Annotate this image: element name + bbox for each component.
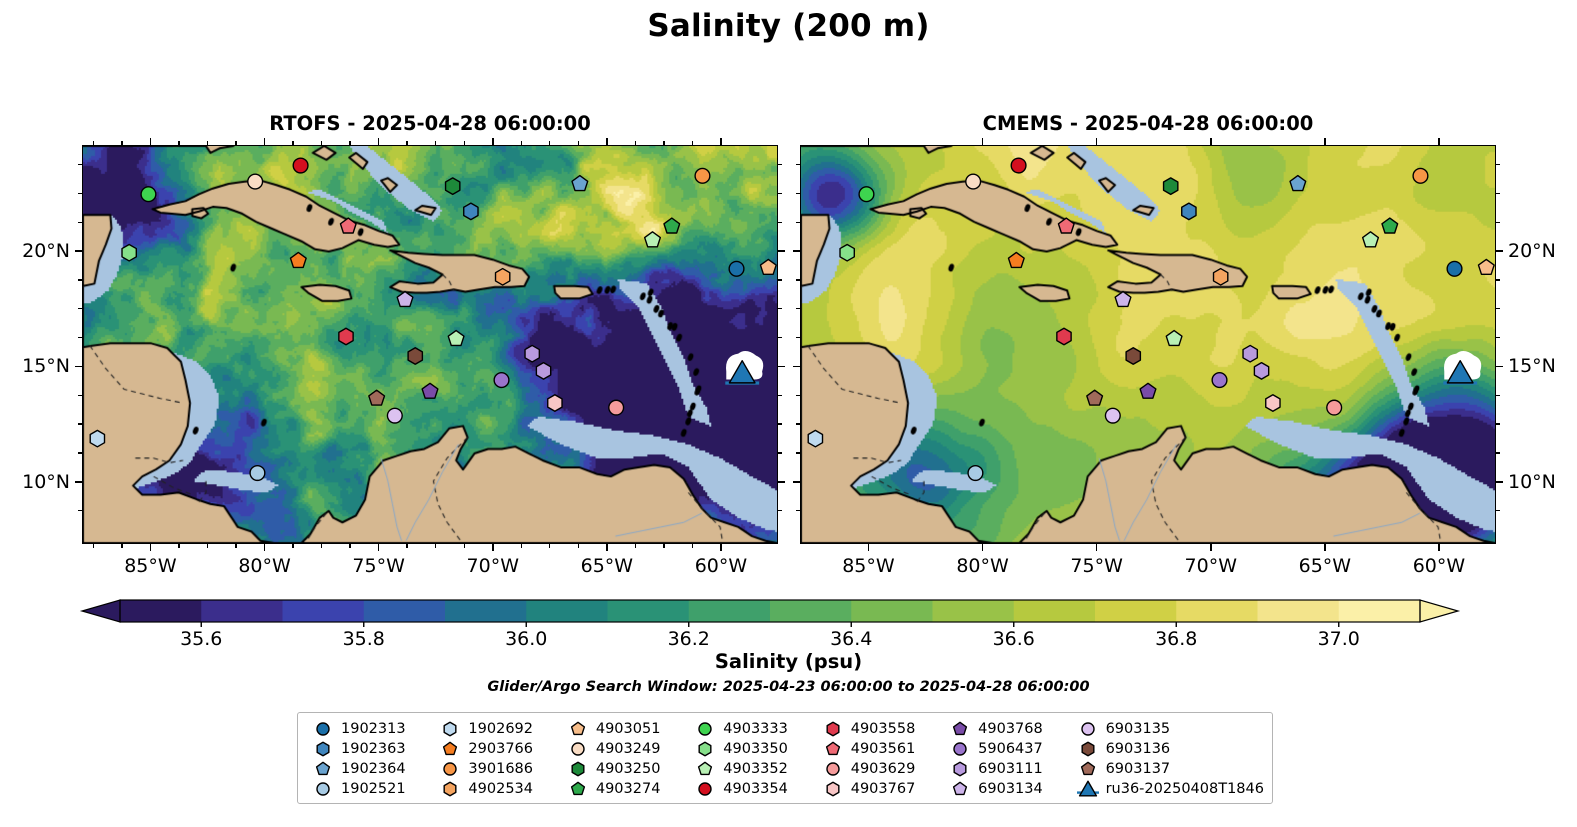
y-tick-label: 20°N [0,240,70,262]
y-tick-major-r [778,250,785,252]
x-tick-minor [635,544,636,548]
x-tick-minor-top [349,141,350,145]
colorbar-segment [283,600,365,622]
colorbar-segment [851,600,933,622]
y-tick-minor [796,222,800,223]
colorbar-segment [1095,600,1177,622]
legend-marker-hexagon-icon [567,759,589,779]
y-tick-minor [796,279,800,280]
legend-label: 6903137 [1106,762,1171,777]
legend-entry[interactable]: 4903249 [561,739,684,759]
y-tick-minor [78,164,82,165]
colorbar-tick-label: 35.8 [343,628,385,650]
x-tick-label: 85°W [842,555,894,577]
legend-entry[interactable]: 4903768 [943,719,1066,739]
y-tick-minor-r [778,337,782,338]
y-tick-minor-r [1496,510,1500,511]
x-tick-label: 80°W [238,555,290,577]
x-tick-major [1324,544,1326,551]
y-tick-minor-r [1496,279,1500,280]
legend-label: 1902363 [341,742,406,757]
legend-entry[interactable]: 1902313 [306,719,429,739]
colorbar-segment [445,600,527,622]
legend-marker-hexagon-icon [1077,739,1099,759]
y-tick-minor [78,222,82,223]
x-tick-minor-top [663,141,664,145]
legend-entry[interactable]: 1902364 [306,759,429,779]
x-tick-major [982,544,984,551]
legend-entry[interactable]: 5906437 [943,739,1066,759]
legend-marker-circle-icon [439,759,461,779]
x-tick-label: 80°W [956,555,1008,577]
legend-label: 4903250 [596,762,661,777]
legend-marker-pentagon-icon [439,739,461,759]
x-tick-minor [93,544,94,548]
x-tick-label: 75°W [1070,555,1122,577]
legend-label: 6903134 [978,782,1043,797]
colorbar-tick-label: 36.0 [505,628,547,650]
legend-label: 4903561 [851,742,916,757]
legend-entry[interactable]: 1902521 [306,779,429,799]
legend-label: 5906437 [978,742,1043,757]
page-title: Salinity (200 m) [0,8,1577,44]
x-tick-major-top [150,138,152,145]
rtofs-platform-markers [83,146,777,543]
legend-entry[interactable]: 6903134 [943,779,1066,799]
y-tick-label: 10°N [0,471,70,493]
legend-label: 3901686 [468,762,533,777]
legend-entry[interactable]: ru36-20250408T1846 [1071,779,1264,799]
x-tick-minor [435,544,436,548]
x-tick-major-top [868,138,870,145]
y-tick-minor-r [1496,308,1500,309]
legend-label: 4903767 [851,782,916,797]
x-tick-minor-top [692,141,693,145]
legend-marker-hexagon-icon [822,779,844,799]
legend-marker-hexagon-icon [312,739,334,759]
rtofs-map-panel[interactable] [82,145,778,544]
x-tick-minor-top [207,141,208,145]
colorbar-tick-label: 36.2 [668,628,710,650]
y-tick-major-r [778,481,785,483]
y-tick-major [75,250,82,252]
y-tick-minor [796,395,800,396]
legend-marker-circle-icon [567,739,589,759]
legend-label: 1902521 [341,782,406,797]
legend-marker-hexagon-icon [822,719,844,739]
x-tick-major [868,544,870,551]
x-tick-label: 75°W [352,555,404,577]
legend-label: ru36-20250408T1846 [1106,782,1264,797]
legend-entry[interactable]: 6903111 [943,759,1066,779]
y-tick-minor-r [778,279,782,280]
search-window-annotation: Glider/Argo Search Window: 2025-04-23 06… [0,679,1577,695]
y-tick-minor-r [1496,395,1500,396]
legend-label: 4903558 [851,722,916,737]
y-tick-minor-r [1496,452,1500,453]
legend-label: 4903354 [723,782,788,797]
legend-entry[interactable]: 4903250 [561,759,684,779]
y-tick-minor [78,395,82,396]
colorbar-segment [526,600,608,622]
cmems-platform-markers [801,146,1495,543]
legend-entry[interactable]: 4902534 [433,779,556,799]
legend-marker-triangle-icon [1077,779,1099,799]
y-tick-minor [796,308,800,309]
x-tick-major [150,544,152,551]
x-tick-major [1438,544,1440,551]
y-tick-minor [796,193,800,194]
y-tick-minor [796,337,800,338]
colorbar-segment [120,600,202,622]
x-tick-major-top [492,138,494,145]
y-tick-minor-r [778,164,782,165]
y-tick-label: 15°N [1508,355,1556,377]
x-tick-minor [349,544,350,548]
x-tick-major [606,544,608,551]
x-tick-major [492,544,494,551]
cmems-panel-title: CMEMS - 2025-04-28 06:00:00 [800,112,1496,135]
legend-label: 2903766 [468,742,533,757]
legend-marker-circle-icon [312,779,334,799]
legend-marker-circle-icon [949,739,971,759]
colorbar-segment [1339,600,1421,622]
colorbar-segment [201,600,283,622]
colorbar-tick-label: 36.4 [830,628,872,650]
legend-marker-pentagon-icon [567,719,589,739]
colorbar-segment [1176,600,1258,622]
y-tick-minor-r [1496,337,1500,338]
legend-marker-hexagon-icon [694,739,716,759]
x-tick-major-top [982,138,984,145]
x-tick-label: 60°W [1413,555,1465,577]
legend-marker-pentagon-icon [822,739,844,759]
legend-marker-pentagon-icon [567,779,589,799]
legend-entry[interactable]: 4903274 [561,779,684,799]
legend-marker-circle-icon [312,719,334,739]
colorbar-segment [1258,600,1340,622]
x-tick-major [720,544,722,551]
colorbar-extend-min [82,600,120,622]
colorbar-segment [608,600,690,622]
y-tick-minor-r [778,423,782,424]
x-tick-major-top [606,138,608,145]
x-tick-minor [663,544,664,548]
x-tick-minor [292,544,293,548]
colorbar-segment [689,600,771,622]
y-tick-minor-r [778,452,782,453]
legend-marker-hexagon-icon [439,779,461,799]
colorbar-segment [933,600,1015,622]
x-tick-minor [549,544,550,548]
legend-marker-circle-icon [694,719,716,739]
legend-marker-hexagon-icon [949,759,971,779]
colorbar-axis-label: Salinity (psu) [0,650,1577,673]
x-tick-label: 65°W [581,555,633,577]
legend-entry[interactable]: 2903766 [433,739,556,759]
x-tick-minor-top [292,141,293,145]
legend-marker-hexagon-icon [439,719,461,739]
legend-marker-pentagon-icon [949,719,971,739]
legend-label: 4902534 [468,782,533,797]
legend-marker-pentagon-icon [312,759,334,779]
x-tick-major-top [1324,138,1326,145]
legend-entry[interactable]: 6903135 [1071,719,1264,739]
legend-entry[interactable]: 4903561 [816,739,939,759]
x-tick-minor-top [321,141,322,145]
y-tick-major [75,481,82,483]
legend-marker-pentagon-icon [949,779,971,799]
legend-marker-pentagon-icon [694,759,716,779]
y-tick-minor [78,452,82,453]
x-tick-major-top [378,138,380,145]
y-tick-minor-r [778,395,782,396]
legend-entry[interactable]: 4903051 [561,719,684,739]
y-tick-minor-r [778,193,782,194]
x-tick-minor-top [635,141,636,145]
legend-entry[interactable]: 1902692 [433,719,556,739]
legend-entry[interactable]: 1902363 [306,739,429,759]
colorbar-tick-label: 36.8 [1155,628,1197,650]
x-tick-label: 60°W [695,555,747,577]
legend-label: 4903350 [723,742,788,757]
x-tick-major [378,544,380,551]
y-tick-minor-r [778,308,782,309]
legend-label: 6903136 [1106,742,1171,757]
y-tick-major [793,481,800,483]
legend-label: 4903352 [723,762,788,777]
y-tick-minor-r [1496,222,1500,223]
y-tick-major-r [778,366,785,368]
x-tick-minor-top [121,141,122,145]
y-tick-major-r [1496,481,1503,483]
legend-label: 4903629 [851,762,916,777]
legend-entry[interactable]: 4903767 [816,779,939,799]
x-tick-minor-top [578,141,579,145]
colorbar-tick-label: 36.6 [993,628,1035,650]
x-tick-label: 70°W [467,555,519,577]
x-tick-major-top [1210,138,1212,145]
rtofs-panel-title: RTOFS - 2025-04-28 06:00:00 [82,112,778,135]
y-tick-minor-r [1496,423,1500,424]
y-tick-label: 10°N [1508,471,1556,493]
y-tick-minor [78,279,82,280]
x-tick-major [264,544,266,551]
colorbar-segment [770,600,852,622]
y-tick-minor [78,308,82,309]
legend-marker-circle-icon [1077,719,1099,739]
legend-entry[interactable]: 6903137 [1071,759,1264,779]
x-tick-minor [321,544,322,548]
y-tick-minor [78,193,82,194]
legend-label: 1902364 [341,762,406,777]
y-tick-minor-r [1496,164,1500,165]
y-tick-major [793,250,800,252]
legend-entry[interactable]: 4903350 [688,739,811,759]
cmems-map-panel[interactable] [800,145,1496,544]
y-tick-minor-r [778,222,782,223]
x-tick-minor-top [93,141,94,145]
y-tick-major-r [1496,250,1503,252]
x-tick-minor-top [178,141,179,145]
x-tick-minor [692,544,693,548]
y-tick-minor [796,452,800,453]
legend-label: 4903768 [978,722,1043,737]
legend-entry[interactable]: 4903352 [688,759,811,779]
x-tick-minor-top [549,141,550,145]
x-tick-minor [207,544,208,548]
legend-entry[interactable]: 4903629 [816,759,939,779]
y-tick-major-r [1496,366,1503,368]
colorbar-segment [364,600,446,622]
y-tick-major [793,366,800,368]
legend-entry[interactable]: 4903333 [688,719,811,739]
x-tick-minor [464,544,465,548]
x-tick-minor-top [235,141,236,145]
y-tick-minor [796,423,800,424]
x-tick-major-top [264,138,266,145]
x-tick-label: 65°W [1299,555,1351,577]
x-tick-minor-top [521,141,522,145]
legend-label: 6903135 [1106,722,1171,737]
x-tick-major [1096,544,1098,551]
colorbar-extend-max [1420,600,1458,622]
y-tick-minor [78,510,82,511]
x-tick-label: 70°W [1185,555,1237,577]
x-tick-label: 85°W [124,555,176,577]
x-tick-minor-top [406,141,407,145]
x-tick-major-top [720,138,722,145]
legend-entry[interactable]: 3901686 [433,759,556,779]
legend-marker-pentagon-icon [1077,759,1099,779]
legend-label: 4903051 [596,722,661,737]
legend-label: 4903274 [596,782,661,797]
legend-label: 4903249 [596,742,661,757]
y-tick-minor [796,164,800,165]
y-tick-minor-r [1496,193,1500,194]
x-tick-minor [406,544,407,548]
legend-entry[interactable]: 4903354 [688,779,811,799]
colorbar-tick-label: 35.6 [180,628,222,650]
colorbar-segment [1014,600,1096,622]
legend-marker-circle-icon [694,779,716,799]
x-tick-minor-top [464,141,465,145]
x-tick-minor-top [435,141,436,145]
platform-legend: 1902313190236319023641902521190269229037… [297,712,1273,804]
x-tick-major-top [1438,138,1440,145]
x-tick-minor [578,544,579,548]
y-tick-minor [796,510,800,511]
legend-entry[interactable]: 6903136 [1071,739,1264,759]
legend-marker-circle-icon [822,759,844,779]
legend-label: 1902313 [341,722,406,737]
y-tick-minor-r [778,510,782,511]
x-tick-minor [178,544,179,548]
x-tick-minor [121,544,122,548]
x-tick-major-top [1096,138,1098,145]
colorbar [0,598,1577,628]
legend-label: 1902692 [468,722,533,737]
y-tick-minor [78,423,82,424]
colorbar-tick-label: 37.0 [1318,628,1360,650]
legend-label: 4903333 [723,722,788,737]
y-tick-label: 15°N [0,355,70,377]
x-tick-minor [521,544,522,548]
y-tick-major [75,366,82,368]
legend-entry[interactable]: 4903558 [816,719,939,739]
legend-label: 6903111 [978,762,1043,777]
y-tick-minor [78,337,82,338]
x-tick-major [1210,544,1212,551]
y-tick-label: 20°N [1508,240,1556,262]
x-tick-minor [235,544,236,548]
